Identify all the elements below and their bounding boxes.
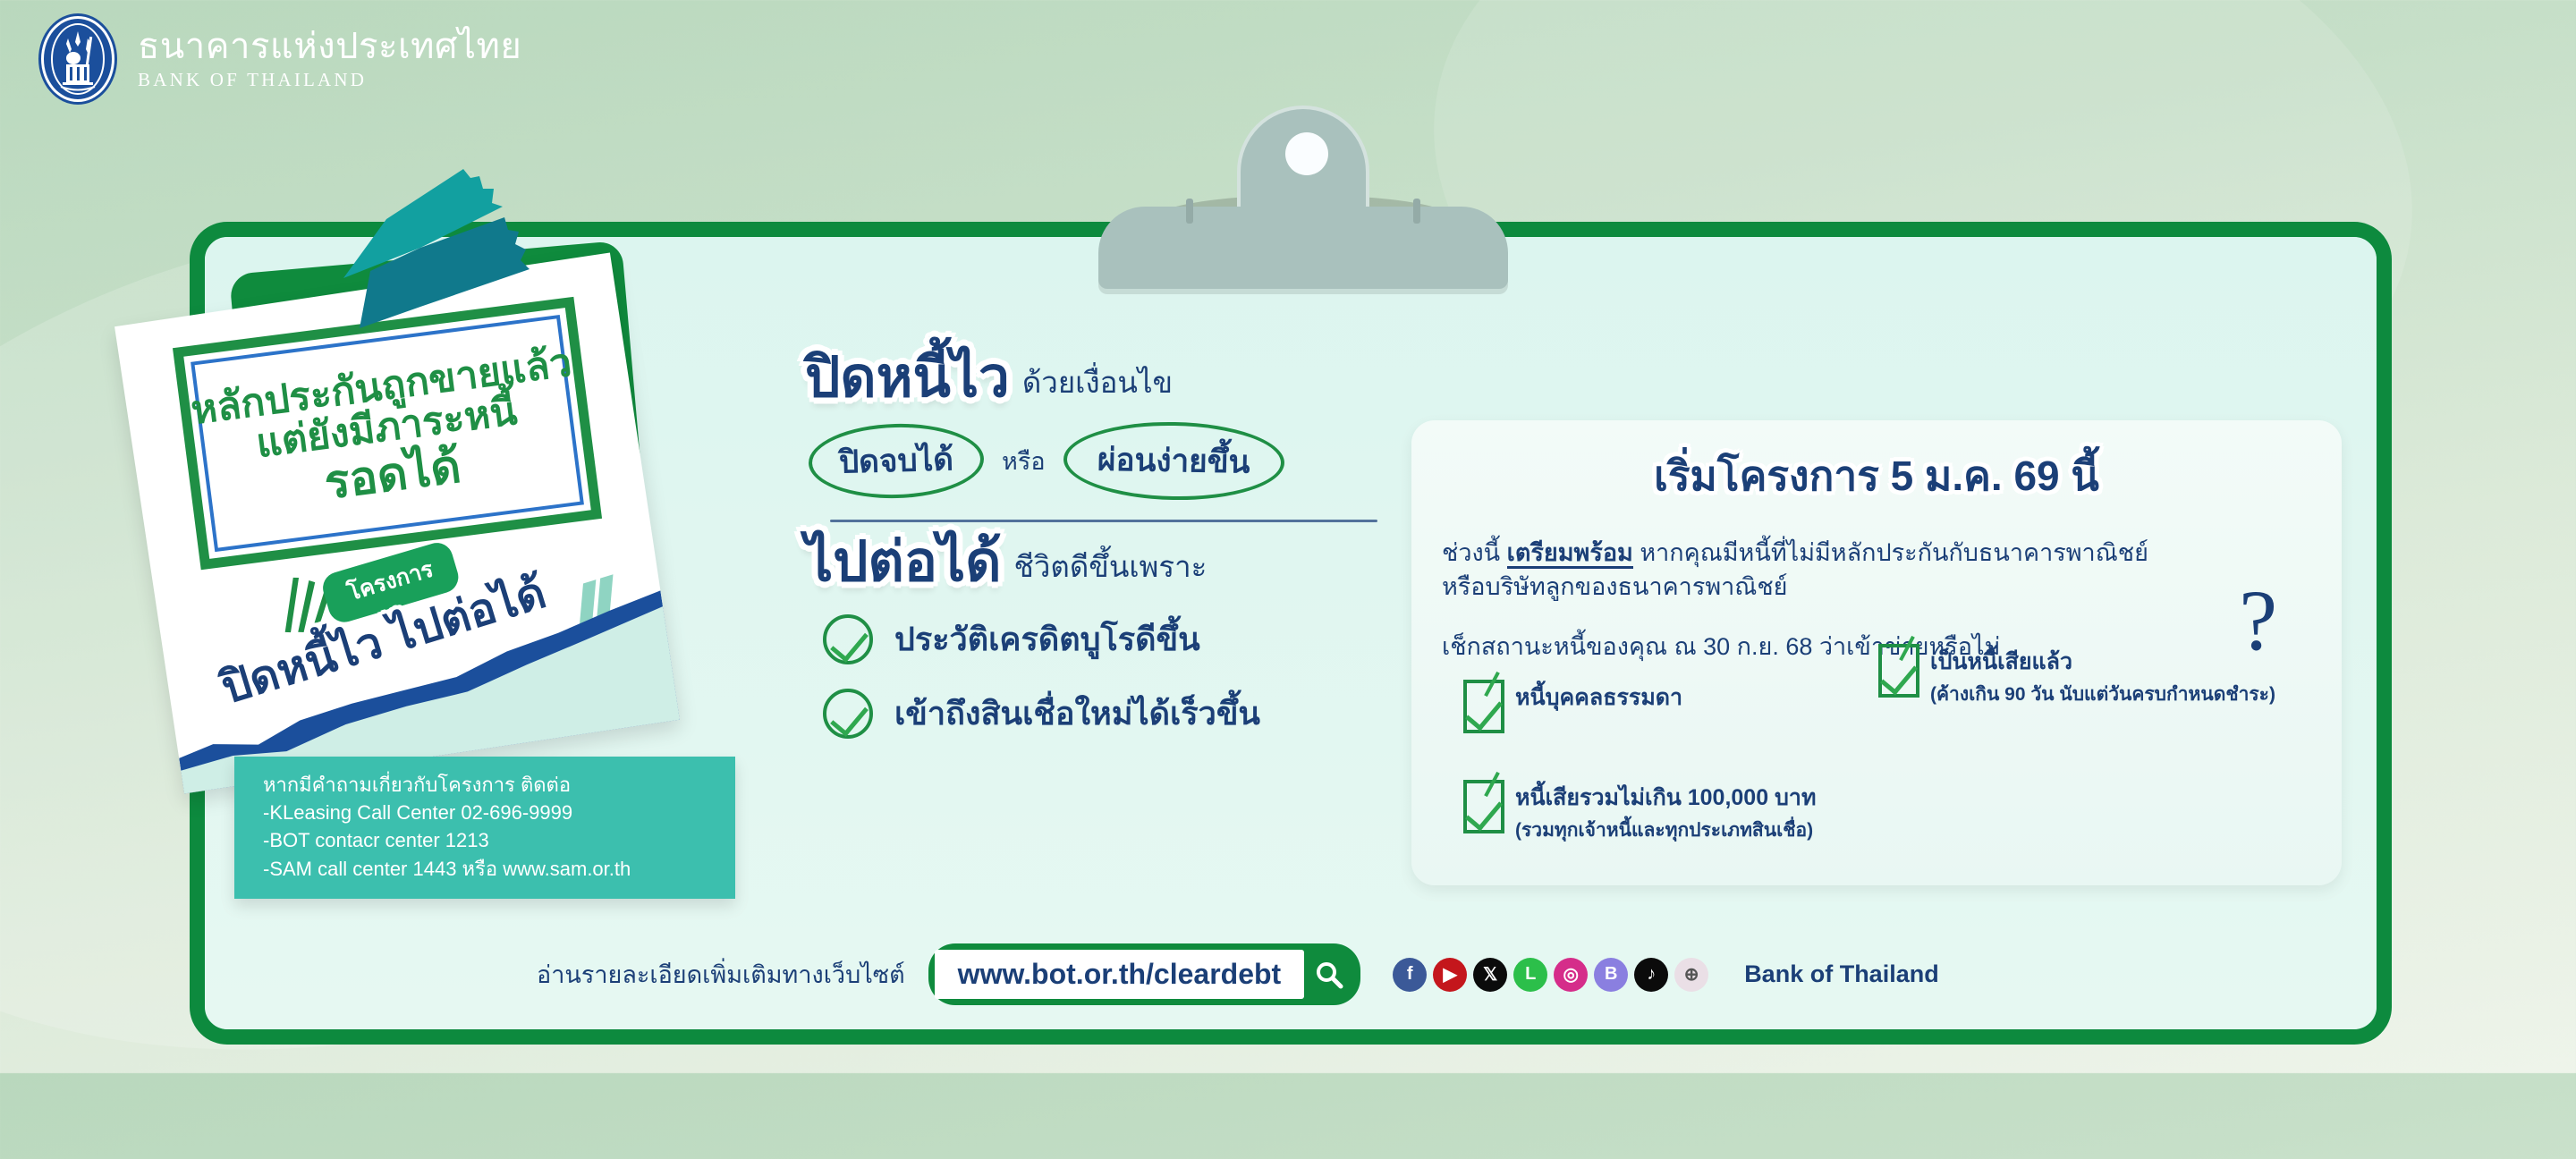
benefit-label-1: ประวัติเครดิตบูโรดีขึ้น: [894, 613, 1200, 664]
search-icon[interactable]: [1304, 960, 1354, 990]
contact-info-box: หากมีคำถามเกี่ยวกับโครงการ ติดต่อ -KLeas…: [234, 757, 735, 899]
contact-line-4: -SAM call center 1443 หรือ www.sam.or.th: [263, 855, 717, 883]
para1-post: หากคุณมีหนี้ที่ไม่มีหลักประกันกับธนาคารพ…: [1633, 539, 2148, 566]
info-paragraph-1-line2: หรือบริษัทลูกของธนาคารพาณิชย์: [1442, 570, 2311, 604]
criteria-item: เป็นหนี้เสียแล้ว (ค้างเกิน 90 วัน นับแต่…: [1878, 644, 2275, 709]
line-icon[interactable]: L: [1513, 958, 1547, 992]
criteria-item: หนี้บุคคลธรรมดา: [1463, 680, 1682, 733]
headline2-subtext: ชีวิตดีขึ้นเพราะ: [1013, 543, 1207, 590]
check-square-icon: [1463, 780, 1504, 833]
options-row: ปิดจบได้ หรือ ผ่อนง่ายขึ้น: [809, 422, 1431, 500]
contact-line-1: หากมีคำถามเกี่ยวกับโครงการ ติดต่อ: [263, 771, 717, 799]
headline1-subtext: ด้วยเงื่อนไข: [1022, 359, 1173, 406]
criteria-2-line1: เป็นหนี้เสียแล้ว: [1930, 649, 2072, 674]
social-links[interactable]: f▶𝕏L◎B♪⊕: [1393, 958, 1708, 992]
blockdit-icon[interactable]: B: [1594, 958, 1628, 992]
contact-line-2: -KLeasing Call Center 02-696-9999: [263, 799, 717, 826]
benefit-item: ประวัติเครดิตบูโรดีขึ้น: [823, 613, 1431, 664]
section-divider: [830, 520, 1377, 522]
clipboard-clamp-icon: [1098, 106, 1508, 289]
website-icon[interactable]: ⊕: [1674, 958, 1708, 992]
read-more-label: อ่านรายละเอียดเพิ่มเติมทางเว็บไซต์: [537, 955, 905, 994]
para1-pre: ช่วงนี้: [1442, 539, 1507, 566]
tiktok-icon[interactable]: ♪: [1634, 958, 1668, 992]
benefit-item: เข้าถึงสินเชื่อใหม่ได้เร็วขึ้น: [823, 688, 1431, 739]
option-close-debt: ปิดจบได้: [808, 421, 985, 500]
check-circle-icon: [823, 614, 873, 664]
headline-move-forward: ไปต่อได้: [805, 535, 1001, 590]
organization-name: Bank of Thailand: [1744, 960, 1939, 988]
criteria-3-line1: หนี้เสียรวมไม่เกิน 100,000 บาท: [1515, 785, 1816, 810]
teal-tape-icon: [313, 165, 546, 344]
footer-bar: อ่านรายละเอียดเพิ่มเติมทางเว็บไซต์ www.b…: [537, 943, 1939, 1005]
url-search-box[interactable]: www.bot.or.th/cleardebt: [928, 943, 1361, 1005]
x-twitter-icon[interactable]: 𝕏: [1473, 958, 1507, 992]
option-easier-installment: ผ่อนง่ายขึ้น: [1063, 420, 1284, 502]
criteria-item: หนี้เสียรวมไม่เกิน 100,000 บาท (รวมทุกเจ…: [1463, 780, 1816, 845]
bank-name-thai: ธนาคารแห่งประเทศไทย: [138, 28, 521, 65]
info-card-title: เริ่มโครงการ 5 ม.ค. 69 นี้: [1442, 444, 2311, 509]
contact-line-3: -BOT contacr center 1213: [263, 826, 717, 854]
headline-close-debt-fast: ปิดหนี้ไว: [805, 351, 1010, 406]
url-text[interactable]: www.bot.or.th/cleardebt: [935, 950, 1305, 999]
center-messaging: ปิดหนี้ไว ด้วยเงื่อนไข ปิดจบได้ หรือ ผ่อ…: [805, 351, 1431, 739]
check-square-icon: [1878, 644, 1919, 698]
info-paragraph-1: ช่วงนี้ เตรียมพร้อม หากคุณมีหนี้ที่ไม่มี…: [1442, 536, 2311, 570]
criteria-3-line2: (รวมทุกเจ้าหนี้และทุกประเภทสินเชื่อ): [1515, 820, 1813, 841]
facebook-icon[interactable]: f: [1393, 958, 1427, 992]
check-square-icon: [1463, 680, 1504, 733]
bot-garuda-seal-icon: [41, 16, 114, 102]
campaign-poster: หลักประกันถูกขายแล้ว แต่ยังมีภาระหนี้ รอ…: [134, 174, 707, 765]
bank-name-english: BANK OF THAILAND: [138, 69, 521, 91]
program-info-card: เริ่มโครงการ 5 ม.ค. 69 นี้ ช่วงนี้ เตรีย…: [1411, 420, 2342, 885]
criteria-2-line2: (ค้างเกิน 90 วัน นับแต่วันครบกำหนดชำระ): [1930, 684, 2275, 705]
benefit-label-2: เข้าถึงสินเชื่อใหม่ได้เร็วขึ้น: [894, 688, 1260, 739]
criteria-1-line1: หนี้บุคคลธรรมดา: [1515, 685, 1682, 710]
instagram-icon[interactable]: ◎: [1554, 958, 1588, 992]
check-circle-icon: [823, 689, 873, 739]
bot-header: ธนาคารแห่งประเทศไทย BANK OF THAILAND: [41, 16, 521, 102]
para1-bold: เตรียมพร้อม: [1507, 539, 1633, 569]
youtube-icon[interactable]: ▶: [1433, 958, 1467, 992]
or-word: หรือ: [1002, 442, 1046, 480]
